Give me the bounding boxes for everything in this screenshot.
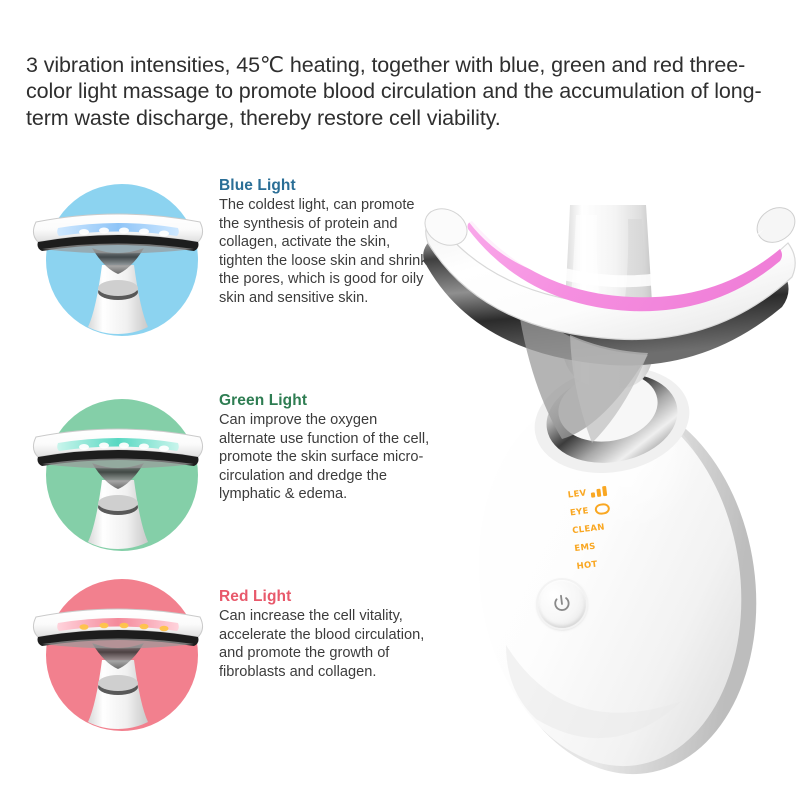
control-label-lev: LEV (567, 488, 587, 500)
red-light-text-block: Red Light Can increase the cell vitality… (219, 587, 434, 681)
red-light-body: Can increase the cell vitality, accelera… (219, 607, 434, 681)
product-illustration: LEV EYE CLEAN EMS HOT (420, 175, 800, 775)
control-panel: LEV EYE CLEAN EMS HOT (567, 473, 697, 577)
green-light-thumbnail (28, 385, 208, 565)
blue-light-body: The coldest light, can promote the synth… (219, 196, 434, 308)
power-icon (550, 592, 575, 617)
mini-device-green (28, 385, 208, 565)
eye-icon (594, 503, 610, 516)
blue-light-title: Blue Light (219, 176, 434, 195)
red-light-thumbnail (28, 565, 208, 745)
feature-row-red-light: Red Light Can increase the cell vitality… (0, 565, 440, 745)
mini-device-red (28, 565, 208, 745)
device-drawing (420, 175, 800, 775)
green-light-title: Green Light (219, 391, 434, 410)
green-light-text-block: Green Light Can improve the oxygen alter… (219, 391, 434, 504)
feature-row-green-light: Green Light Can improve the oxygen alter… (0, 385, 440, 565)
control-label-ems: EMS (574, 541, 596, 554)
mini-device-blue (28, 170, 208, 350)
feature-row-blue-light: Blue Light The coldest light, can promot… (0, 170, 440, 350)
control-label-clean: CLEAN (572, 522, 606, 536)
control-label-eye: EYE (569, 506, 589, 518)
level-bars-icon (590, 485, 607, 497)
intro-paragraph: 3 vibration intensities, 45℃ heating, to… (26, 52, 774, 132)
red-light-title: Red Light (219, 587, 434, 606)
green-light-body: Can improve the oxygen alternate use fun… (219, 411, 434, 504)
blue-light-text-block: Blue Light The coldest light, can promot… (219, 176, 434, 308)
blue-light-thumbnail (28, 170, 208, 350)
control-label-hot: HOT (576, 559, 598, 571)
